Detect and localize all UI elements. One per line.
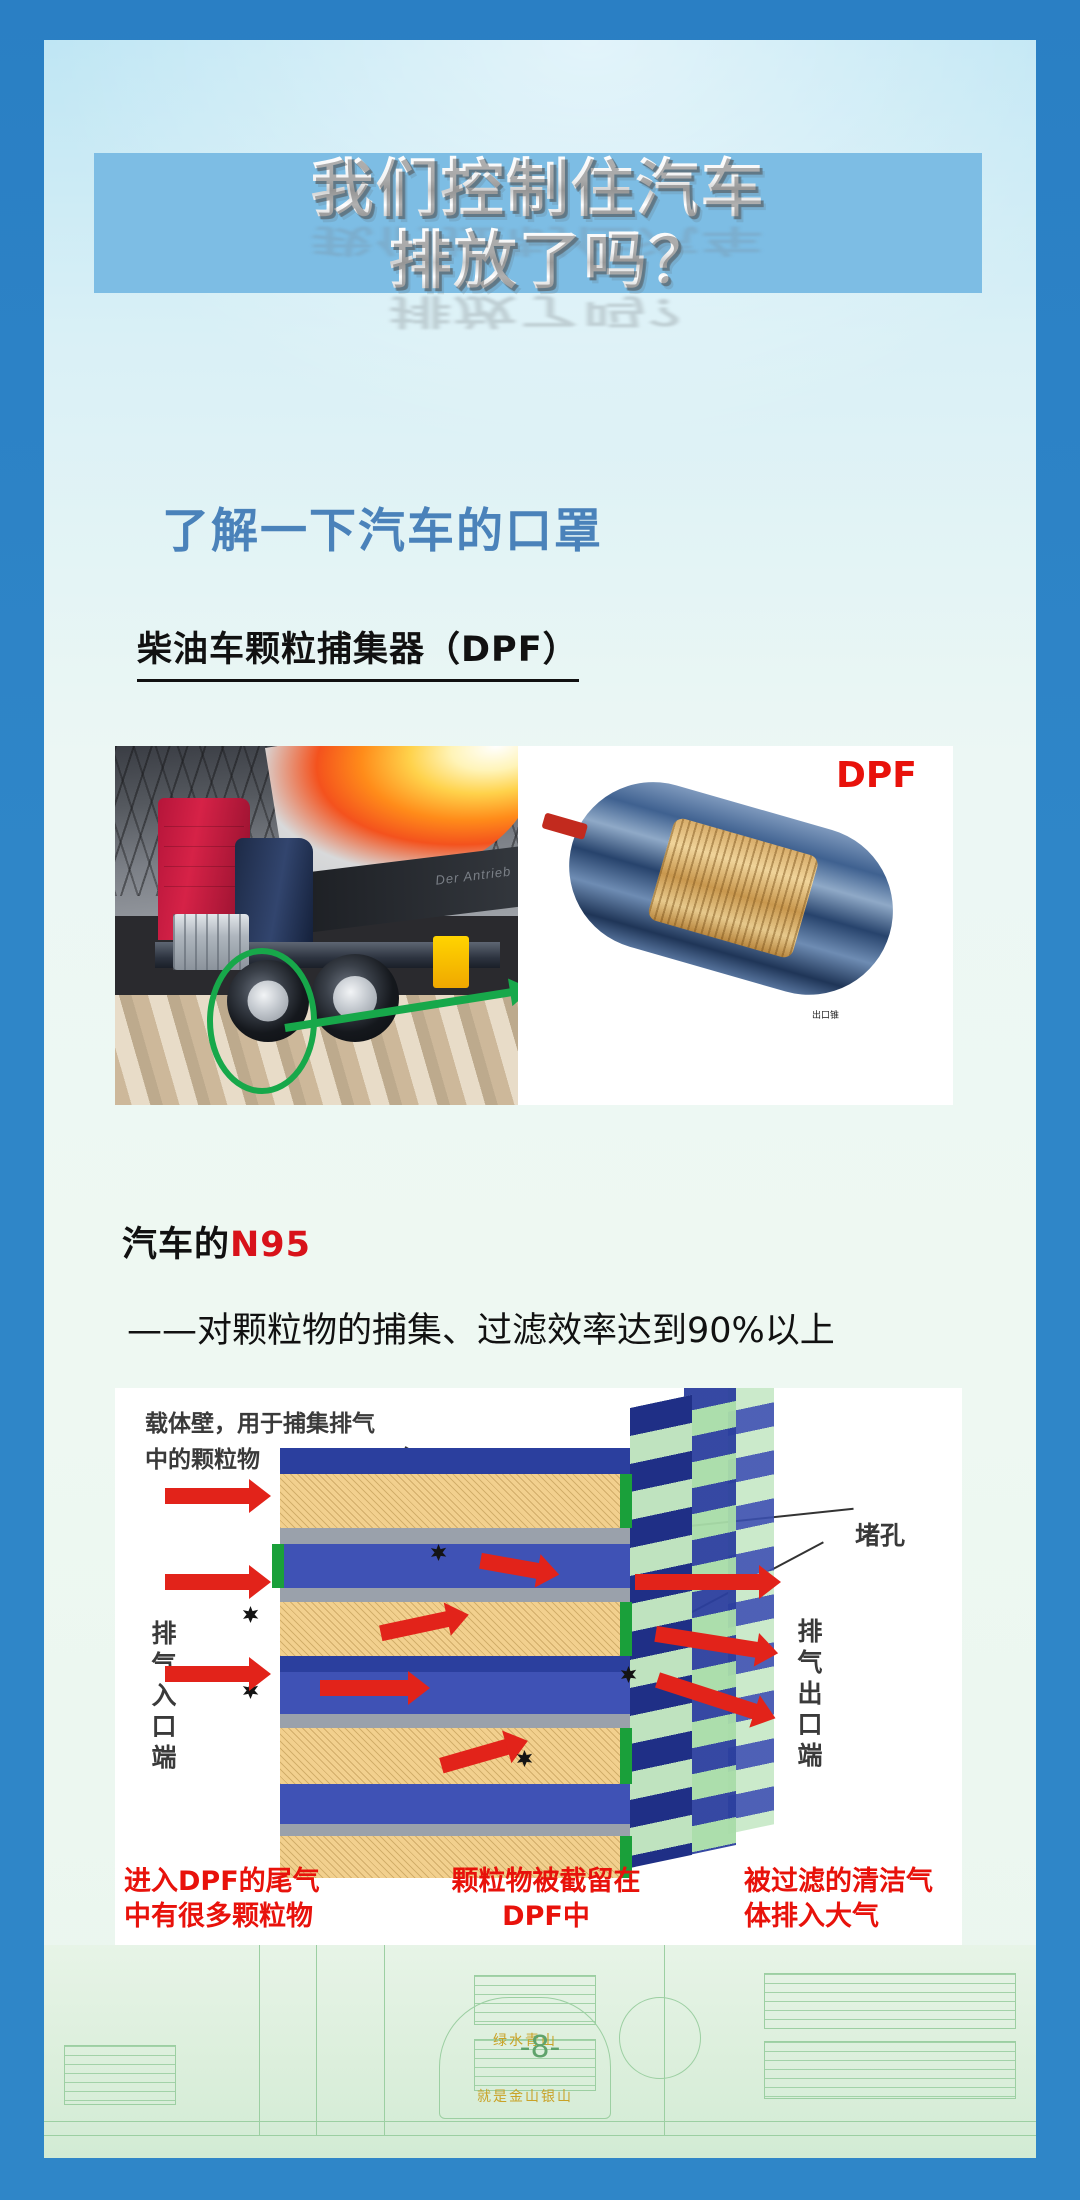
page-number: -8- — [44, 2030, 1036, 2065]
caption-outlet: 被过滤的清洁气体排入大气 — [744, 1864, 954, 1934]
channel-layer — [280, 1714, 630, 1728]
channel-layer — [280, 1474, 630, 1528]
slide-frame: 我们控制住汽车 我们控制住汽车 排放了吗？ 排放了吗？ 了解一下汽车的口罩 柴油… — [0, 0, 1080, 2200]
plug-green — [620, 1474, 632, 1528]
sketch-ground-line — [44, 2135, 1036, 2136]
title-reflection-bottom: 排放了吗？ — [94, 293, 982, 329]
n95-detail: ——对颗粒物的捕集、过滤效率达到90%以上 — [127, 1302, 835, 1353]
dpf-cutaway-illustration: DPF 催化区 过滤区 出口锥 — [518, 746, 953, 1105]
sketch-building — [764, 1973, 1016, 2029]
soot-particle — [242, 1606, 259, 1623]
dpf-red-label: DPF — [836, 758, 900, 794]
plug-hole-label: 堵孔 — [855, 1516, 905, 1552]
truck-exhibition-photo — [115, 746, 518, 1105]
dpf-housing — [543, 762, 913, 1036]
channel-layer — [280, 1656, 630, 1672]
n95-headline: 汽车的N95 — [122, 1216, 311, 1267]
truck-dpf-photo: DPF 催化区 过滤区 出口锥 — [115, 746, 953, 1105]
channel-layer — [280, 1784, 630, 1824]
plug-green — [272, 1544, 284, 1588]
plug-green — [620, 1602, 632, 1656]
exhaust-outlet-label: 排气出口端 — [795, 1616, 825, 1771]
internal-flow-arrow — [320, 1680, 410, 1696]
inlet-arrow — [165, 1488, 251, 1504]
filter-substrate-block — [280, 1448, 630, 1868]
yellow-equipment-block — [433, 936, 469, 988]
stone-text-line-2: 就是金山银山 — [440, 2084, 610, 2110]
n95-prefix: 汽车的 — [122, 1225, 230, 1265]
channel-layer — [280, 1528, 630, 1544]
caption-trapped: 颗粒物被截留在DPF中 — [436, 1864, 656, 1934]
dpf-inlet-arrow — [541, 812, 588, 840]
sketch-ground-line — [44, 2121, 1036, 2122]
plug-green — [620, 1728, 632, 1784]
truck-wheel-rear — [311, 954, 399, 1042]
inlet-arrow — [165, 1574, 251, 1590]
inlet-arrow — [165, 1666, 251, 1682]
slide-canvas: 我们控制住汽车 我们控制住汽车 排放了吗？ 排放了吗？ 了解一下汽车的口罩 柴油… — [44, 40, 1036, 2158]
caption-inlet: 进入DPF的尾气中有很多颗粒物 — [124, 1864, 324, 1934]
channel-layer — [280, 1448, 630, 1474]
subtitle: 了解一下汽车的口罩 — [162, 492, 603, 561]
section-heading: 柴油车颗粒捕集器（DPF） — [137, 621, 579, 682]
title-band — [94, 153, 982, 293]
channel-layer — [280, 1544, 630, 1588]
channel-layer — [280, 1824, 630, 1836]
exhaust-inlet-label: 排气入口端 — [149, 1618, 179, 1773]
n95-badge: N95 — [230, 1225, 311, 1265]
outlet-arrow — [635, 1574, 761, 1590]
